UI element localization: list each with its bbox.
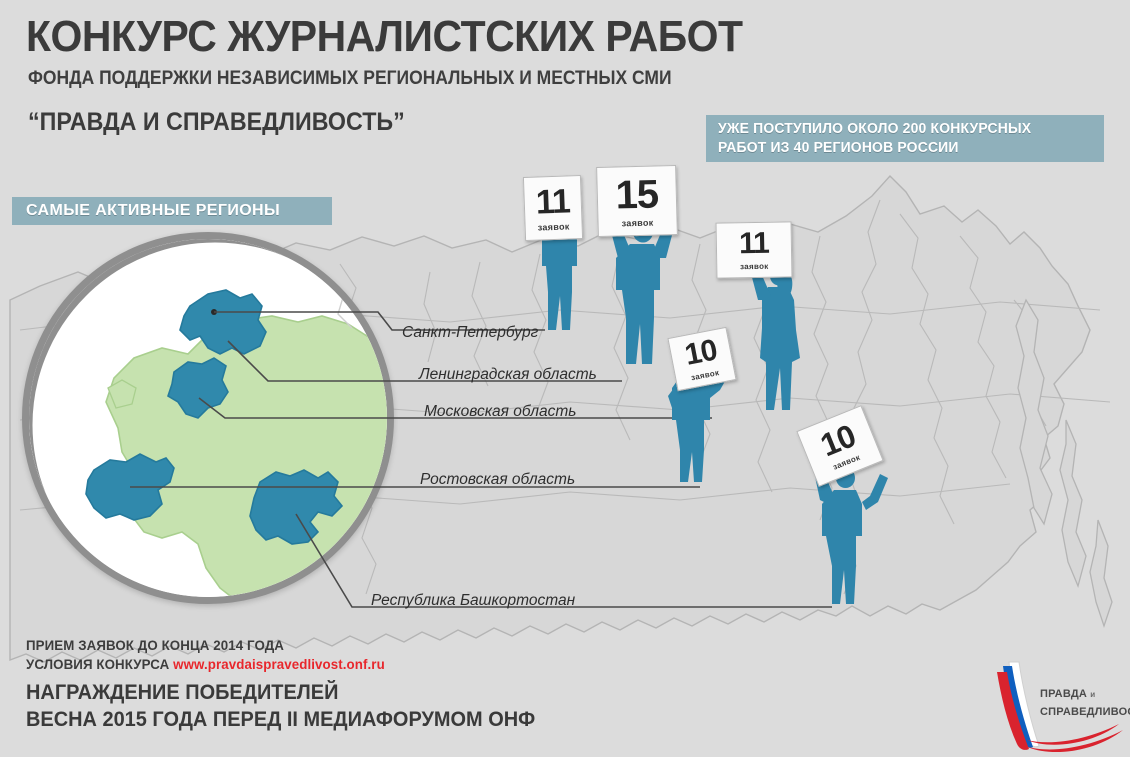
- person-figure-moscow-oblast: [744, 258, 822, 420]
- logo-word-pravda: ПРАВДА: [1040, 688, 1087, 700]
- sign-unit-leningrad-oblast: заявок: [622, 217, 654, 228]
- sign-count-leningrad-oblast: 15: [615, 174, 659, 215]
- logo-line2: СПРАВЕДЛИВОСТЬ: [1040, 706, 1130, 718]
- infographic-canvas: КОНКУРС ЖУРНАЛИСТСКИХ РАБОТ ФОНДА ПОДДЕР…: [0, 0, 1130, 757]
- logo-text: ПРАВДА и СПРАВЕДЛИВОСТЬ: [1040, 688, 1130, 718]
- region-label-rostov-oblast: Ростовская область: [420, 471, 575, 489]
- footer-website-link[interactable]: www.pravdaispravedlivost.onf.ru: [173, 656, 385, 672]
- sign-count-rostov-oblast: 10: [683, 335, 720, 370]
- region-label-bashkortostan: Республика Башкортостан: [371, 592, 575, 610]
- sign-count-moscow-oblast: 11: [739, 229, 769, 260]
- logo-pravda-i-spravedlivost: ПРАВДА и СПРАВЕДЛИВОСТЬ: [995, 660, 1127, 752]
- footer-line-deadline: ПРИЕМ ЗАЯВОК ДО КОНЦА 2014 ГОДА: [26, 636, 535, 655]
- footer-line-award: НАГРАЖДЕНИЕ ПОБЕДИТЕЛЕЙ: [26, 679, 535, 706]
- logo-conjunction: и: [1090, 690, 1095, 699]
- sign-leningrad-oblast: 15 заявок: [596, 165, 678, 237]
- sign-count-saint-petersburg: 11: [535, 184, 570, 219]
- footer-line-conditions: УСЛОВИЯ КОНКУРСА www.pravdaispravedlivos…: [26, 655, 535, 674]
- logo-line1: ПРАВДА и: [1040, 688, 1130, 700]
- region-label-leningrad-oblast: Ленинградская область: [419, 366, 597, 384]
- sign-saint-petersburg: 11 заявок: [523, 175, 583, 241]
- sign-moscow-oblast: 11 заявок: [716, 221, 793, 278]
- sign-rostov-oblast: 10 заявок: [667, 327, 736, 391]
- sign-unit-saint-petersburg: заявок: [538, 221, 570, 232]
- footer-conditions-prefix: УСЛОВИЯ КОНКУРСА: [26, 656, 173, 672]
- sign-unit-moscow-oblast: заявок: [740, 262, 769, 271]
- footer-block: ПРИЕМ ЗАЯВОК ДО КОНЦА 2014 ГОДА УСЛОВИЯ …: [26, 636, 562, 733]
- region-label-saint-petersburg: Санкт-Петербург: [402, 324, 538, 342]
- footer-line-award-date: ВЕСНА 2015 ГОДА ПЕРЕД II МЕДИАФОРУМОМ ОН…: [26, 706, 535, 733]
- region-label-moscow-oblast: Московская область: [424, 403, 576, 421]
